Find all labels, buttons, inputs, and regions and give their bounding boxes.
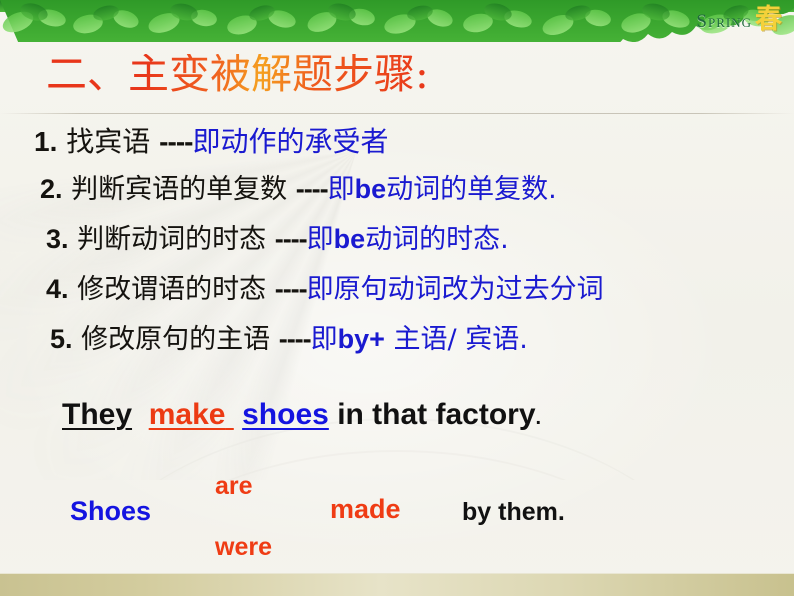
step-text-black: 判断宾语的单复数 — [63, 174, 296, 205]
step-number: 4. — [46, 274, 69, 304]
step-text-black: 判断动词的时态 — [69, 224, 275, 255]
step-number: 3. — [46, 224, 69, 254]
example-sentence: They make shoes in that factory. — [62, 400, 541, 430]
step-dash: ---- — [296, 174, 328, 204]
spring-logo-word: Spring — [696, 12, 752, 31]
sentence-space-3 — [329, 398, 337, 431]
step-text-blue-pre: 即 — [328, 174, 355, 205]
spring-logo: Spring 春 — [696, 9, 782, 33]
step-dash: ---- — [275, 274, 307, 304]
step-text-black: 修改谓语的时态 — [69, 274, 275, 305]
answer-agent: by them. — [462, 500, 565, 525]
list-item-step-5: 5. 修改原句的主语 ----即by+ 主语/ 宾语. — [50, 326, 528, 353]
sentence-verb: make — [149, 398, 226, 431]
title-divider — [0, 113, 794, 114]
step-dash: ---- — [279, 324, 311, 354]
list-item-step-1: 1. 找宾语 ----即动作的承受者 — [34, 128, 388, 156]
step-number: 1. — [34, 126, 57, 157]
step-number: 2. — [40, 174, 63, 204]
slide-canvas: Spring 春 二、主变被解题步骤: 1. 找宾语 ----即动作的承受者 2… — [0, 0, 794, 596]
list-item-step-3: 3. 判断动词的时态 ----即be动词的时态. — [46, 226, 509, 253]
sentence-tail: in that factory — [337, 398, 535, 431]
step-dash: ---- — [275, 224, 307, 254]
bottom-decoration-bar — [0, 573, 794, 596]
spring-logo-chinese-character: 春 — [755, 6, 782, 33]
answer-be-present: are — [215, 474, 253, 499]
step-text-blue-post: 动词的时态. — [365, 224, 509, 255]
sentence-subject: They — [62, 398, 132, 431]
step-text-blue-bold: be — [334, 224, 366, 254]
step-number: 5. — [50, 324, 73, 354]
sentence-object: shoes — [242, 398, 329, 431]
step-text-blue-bold: by+ — [338, 324, 385, 354]
answer-participle: made — [330, 496, 401, 523]
step-text-blue-pre: 即动作的承受者 — [192, 125, 388, 158]
step-text-black: 找宾语 — [57, 125, 159, 158]
step-text-blue-post: 主语/ 宾语. — [385, 324, 528, 355]
sentence-space-1 — [132, 398, 149, 431]
list-item-step-2: 2. 判断宾语的单复数 ----即be动词的单复数. — [40, 176, 557, 203]
sentence-period: . — [536, 407, 542, 429]
step-text-blue-pre: 即 — [307, 224, 334, 255]
step-text-black: 修改原句的主语 — [73, 324, 279, 355]
answer-subject: Shoes — [70, 498, 151, 525]
list-item-step-4: 4. 修改谓语的时态 ----即原句动词改为过去分词 — [46, 276, 604, 303]
sentence-space-2 — [234, 398, 242, 431]
step-text-blue-pre: 即原句动词改为过去分词 — [307, 274, 604, 305]
step-dash: ---- — [159, 126, 192, 157]
sentence-blank-underline — [225, 398, 233, 431]
answer-be-past: were — [215, 535, 272, 560]
step-text-blue-pre: 即 — [311, 324, 338, 355]
step-text-blue-post: 动词的单复数. — [386, 174, 557, 205]
page-title: 二、主变被解题步骤: — [46, 54, 429, 95]
step-text-blue-bold: be — [355, 174, 387, 204]
leaf-border-decoration — [0, 0, 794, 42]
